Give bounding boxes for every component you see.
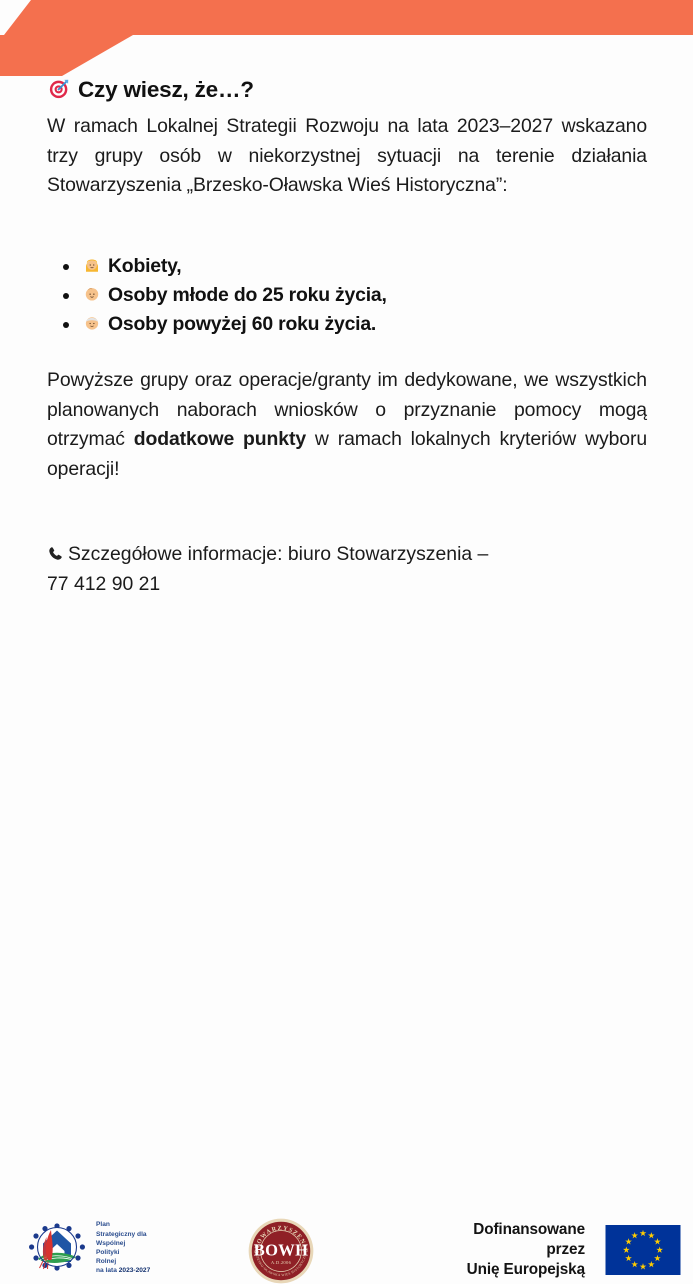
baby-icon: [83, 285, 101, 307]
european-union-flag-icon: [599, 1225, 687, 1275]
eu-text-line-2: Unię Europejską: [432, 1260, 585, 1280]
intro-paragraph: W ramach Lokalnej Strategii Rozwoju na l…: [47, 112, 647, 201]
telephone-receiver-icon: [47, 545, 64, 566]
heading: Czy wiesz, że…?: [49, 77, 254, 103]
disadvantaged-groups-list: Kobiety, Osoby młode do 25 roku życia,: [63, 252, 387, 339]
psw-line-3: Wspólnej: [96, 1240, 125, 1247]
footer-logos: Plan Strategiczny dla Wspólnej Polityki …: [0, 605, 693, 693]
list-item: Kobiety,: [63, 252, 387, 281]
list-item-label: Kobiety,: [108, 255, 181, 278]
psw-line-6-prefix: na lata: [96, 1267, 119, 1274]
older-man-icon: [83, 314, 101, 336]
list-item: Osoby powyżej 60 roku życia.: [63, 310, 387, 339]
bullet-dot-icon: [63, 264, 69, 270]
bowh-association-seal-logo: STOWARZYSZENIE BRZESKO-OŁAWSKA WIEŚ HIST…: [248, 1218, 314, 1284]
heading-text: Czy wiesz, że…?: [78, 77, 254, 103]
psw-line-2: Strategiczny dla: [96, 1231, 147, 1238]
bowh-year-text: A.D.2006: [271, 1260, 292, 1265]
contact-line-1: Szczegółowe informacje: biuro Stowarzysz…: [68, 543, 488, 565]
psw-line-1: Plan: [96, 1221, 110, 1228]
eu-funding-logo: Dofinansowane przez Unię Europejską: [432, 1223, 687, 1277]
bowh-center-text: BOWH: [254, 1241, 309, 1260]
psw-line-4: Polityki: [96, 1249, 119, 1256]
eu-funding-text: Dofinansowane przez Unię Europejską: [432, 1220, 585, 1280]
contact-block: Szczegółowe informacje: biuro Stowarzysz…: [47, 540, 647, 599]
body-paragraph: Powyższe grupy oraz operacje/granty im d…: [47, 366, 647, 484]
psw-line-5: Rolnej: [96, 1258, 116, 1265]
plan-strategiczny-wpr-text: Plan Strategiczny dla Wspólnej Polityki …: [96, 1220, 150, 1275]
woman-icon: [83, 256, 101, 278]
list-item-label: Osoby powyżej 60 roku życia.: [108, 313, 376, 336]
plan-strategiczny-wpr-emblem-icon: [24, 1217, 90, 1279]
body-text-highlight: dodatkowe punkty: [134, 428, 306, 450]
eu-text-line-1: Dofinansowane przez: [432, 1220, 585, 1260]
plan-strategiczny-wpr-logo: Plan Strategiczny dla Wspólnej Polityki …: [24, 1217, 150, 1279]
direct-hit-target-icon: [49, 78, 70, 103]
bullet-dot-icon: [63, 293, 69, 299]
list-item: Osoby młode do 25 roku życia,: [63, 281, 387, 310]
bullet-dot-icon: [63, 322, 69, 328]
contact-phone-number: 77 412 90 21: [47, 573, 160, 595]
poster-content: Czy wiesz, że…? W ramach Lokalnej Strate…: [0, 0, 693, 693]
psw-line-6-years: 2023-2027: [119, 1267, 151, 1274]
list-item-label: Osoby młode do 25 roku życia,: [108, 284, 387, 307]
